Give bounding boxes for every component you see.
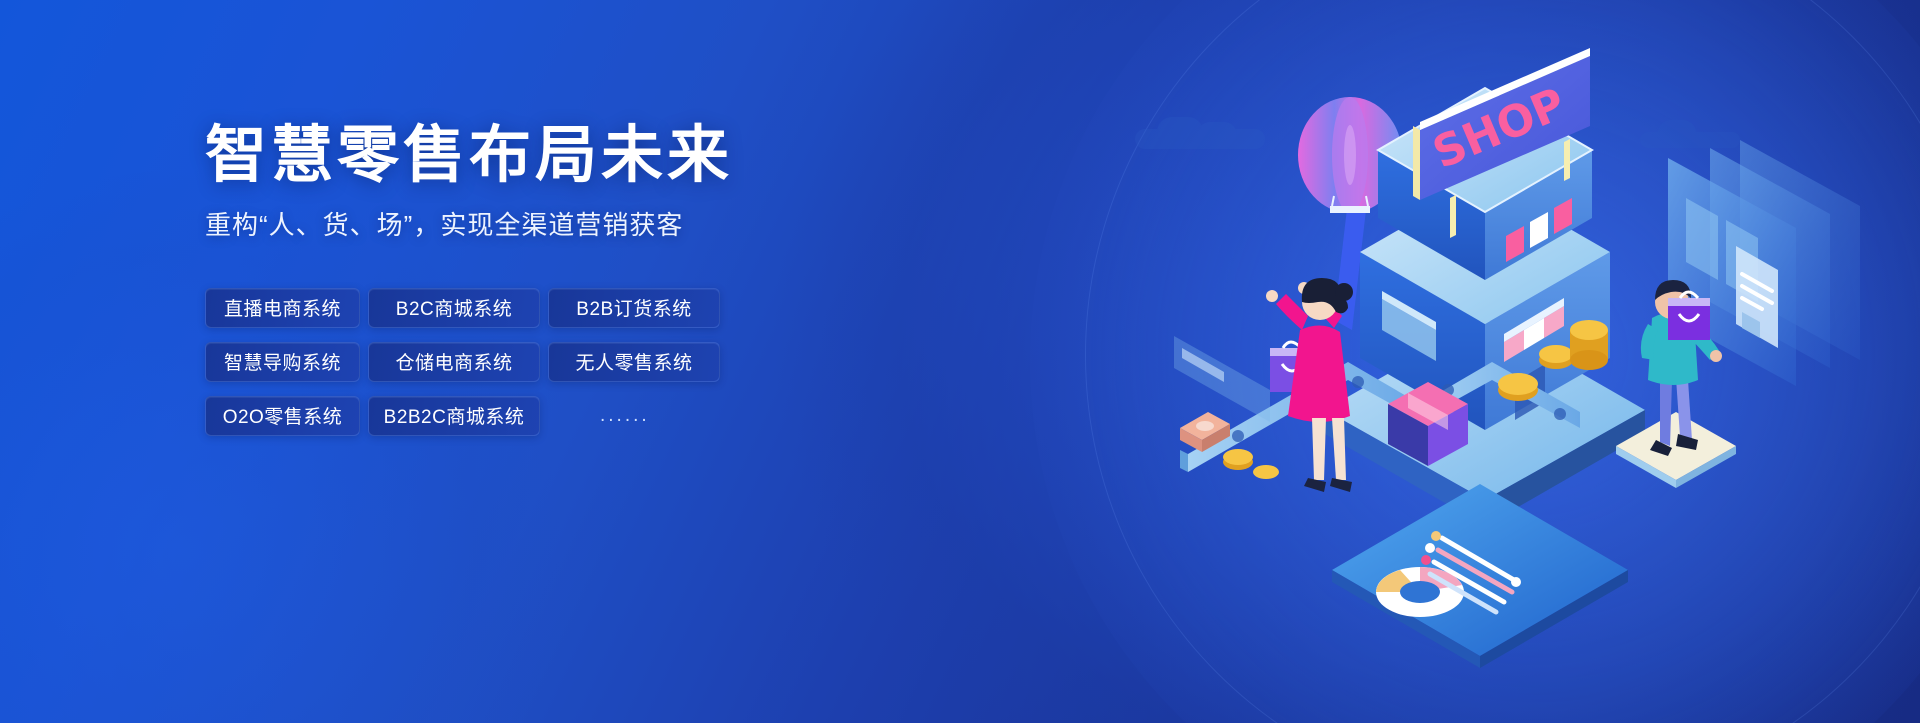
tag-unmanned-retail[interactable]: 无人零售系统 <box>548 342 720 382</box>
analytics-panel <box>1332 484 1628 668</box>
tag-o2o-retail[interactable]: O2O零售系统 <box>205 396 360 436</box>
floating-screens <box>1668 140 1860 386</box>
page-title: 智慧零售布局未来 <box>205 120 965 189</box>
page-subtitle: 重构“人、货、场”，实现全渠道营销获客 <box>205 207 965 243</box>
tag-row: 直播电商系统 B2C商城系统 B2B订货系统 <box>205 288 965 328</box>
hero-banner: SHOP <box>0 0 1920 723</box>
system-tag-grid: 直播电商系统 B2C商城系统 B2B订货系统 智慧导购系统 仓储电商系统 无人零… <box>205 288 965 436</box>
donut-chart <box>1376 567 1464 617</box>
tag-b2b-ordering[interactable]: B2B订货系统 <box>548 288 720 328</box>
tag-more-ellipsis: ...... <box>548 396 650 436</box>
banner-copy: 智慧零售布局未来 重构“人、货、场”，实现全渠道营销获客 直播电商系统 B2C商… <box>205 120 965 436</box>
tag-b2c-mall[interactable]: B2C商城系统 <box>368 288 540 328</box>
tag-row: 智慧导购系统 仓储电商系统 无人零售系统 <box>205 342 965 382</box>
tag-warehouse-commerce[interactable]: 仓储电商系统 <box>368 342 540 382</box>
tag-b2b2c-mall[interactable]: B2B2C商城系统 <box>368 396 540 436</box>
tag-smart-guide[interactable]: 智慧导购系统 <box>205 342 360 382</box>
shopping-bag-icon <box>1668 292 1710 340</box>
tag-live-commerce[interactable]: 直播电商系统 <box>205 288 360 328</box>
retail-illustration: SHOP <box>1120 30 1860 670</box>
floating-card <box>1174 336 1270 422</box>
tag-row: O2O零售系统 B2B2C商城系统 ...... <box>205 396 965 436</box>
